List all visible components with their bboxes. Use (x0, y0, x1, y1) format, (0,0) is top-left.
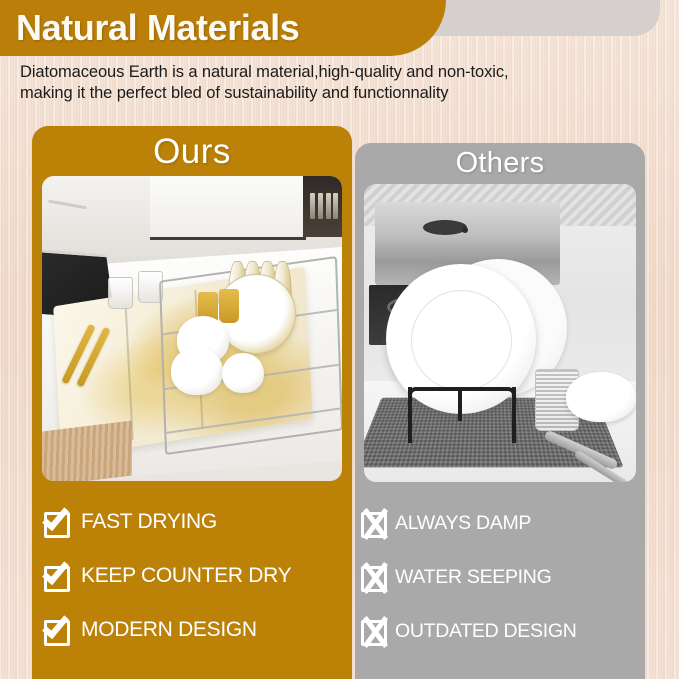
feature-label: KEEP COUNTER DRY (81, 564, 291, 588)
gold-cup (219, 289, 239, 323)
panel-ours: Ours (32, 126, 352, 679)
cross-icon (361, 508, 391, 538)
subtitle-line-1: Diatomaceous Earth is a natural material… (20, 62, 670, 83)
stove-indicator (462, 227, 468, 233)
feature-label: MODERN DESIGN (81, 618, 257, 642)
white-bowl (222, 353, 264, 393)
ours-heading: Ours (32, 126, 352, 172)
feature-label: ALWAYS DAMP (395, 512, 531, 535)
check-icon (44, 562, 72, 590)
feature-row: KEEP COUNTER DRY (44, 549, 352, 603)
feature-row: WATER SEEPING (361, 550, 645, 604)
upper-cabinet (150, 176, 306, 240)
page-title: Natural Materials (16, 7, 299, 49)
feature-row: OUTDATED DESIGN (361, 604, 645, 658)
ours-feature-list: FAST DRYING KEEP COUNTER DRY MODERN DESI… (32, 495, 352, 657)
wire-plate-stand (408, 387, 516, 443)
others-scene (364, 184, 636, 482)
drinking-glass (108, 277, 133, 309)
feature-label: OUTDATED DESIGN (395, 620, 576, 643)
ours-scene (42, 176, 342, 481)
wood-floor (42, 421, 132, 481)
subtitle-block: Diatomaceous Earth is a natural material… (20, 62, 670, 104)
white-bowl (171, 347, 223, 395)
cross-icon (361, 562, 391, 592)
stove-dial (423, 220, 467, 235)
cross-icon (361, 616, 391, 646)
title-banner: Natural Materials (0, 0, 446, 56)
feature-row: FAST DRYING (44, 495, 352, 549)
others-heading: Others (355, 143, 645, 180)
others-feature-list: ALWAYS DAMP WATER SEEPING OUTDATED DESIG… (355, 496, 645, 658)
panel-others: Others (355, 143, 645, 679)
feature-label: FAST DRYING (81, 510, 217, 534)
subtitle-line-2: making it the perfect bled of sustainabi… (20, 83, 670, 104)
others-product-photo (364, 184, 636, 482)
check-icon (44, 508, 72, 536)
check-icon (44, 616, 72, 644)
feature-row: MODERN DESIGN (44, 603, 352, 657)
infographic-canvas: Natural Materials Diatomaceous Earth is … (0, 0, 679, 679)
white-pot (566, 372, 636, 422)
feature-row: ALWAYS DAMP (361, 496, 645, 550)
dark-shelf (303, 176, 342, 237)
feature-label: WATER SEEPING (395, 566, 551, 589)
ours-product-photo (42, 176, 342, 481)
